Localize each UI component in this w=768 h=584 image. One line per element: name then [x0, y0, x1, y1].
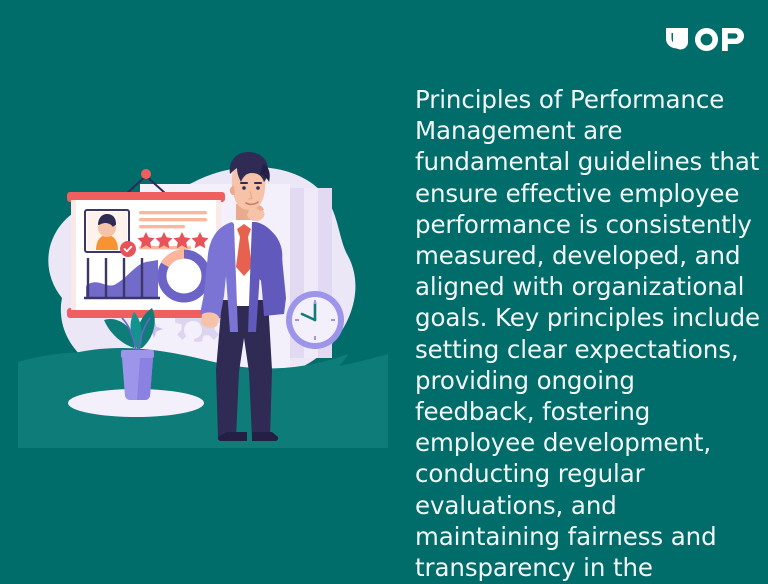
- illustration-svg: [18, 148, 388, 448]
- illustration: [18, 148, 388, 448]
- poster-canvas: Principles of Performance Management are…: [0, 0, 768, 584]
- jop-logo-mark: [666, 28, 744, 52]
- presentation-board: [67, 192, 225, 318]
- body-paragraph: Principles of Performance Management are…: [415, 84, 760, 584]
- wall-clock: [286, 291, 344, 349]
- jop-logo: [666, 28, 744, 52]
- employee-avatar-card: [85, 210, 136, 257]
